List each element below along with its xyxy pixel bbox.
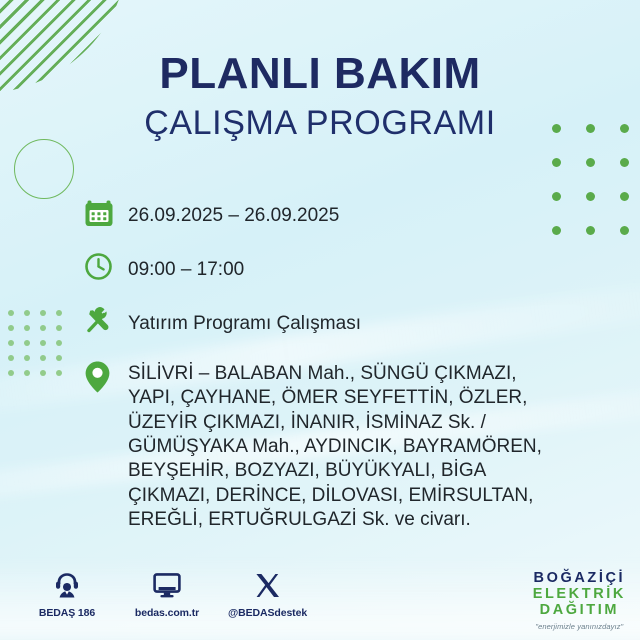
dot-grid-left-decoration — [8, 310, 72, 385]
contact-label: bedas.com.tr — [128, 607, 206, 619]
headset-icon — [28, 568, 106, 602]
x-twitter-icon — [228, 568, 306, 602]
logo-line-bogazici: BOĞAZİÇİ — [533, 570, 626, 586]
info-row-date: 26.09.2025 – 26.09.2025 — [84, 198, 584, 236]
page-title: PLANLI BAKIM ÇALIŞMA PROGRAMI — [0, 52, 640, 140]
work-type-value: Yatırım Programı Çalışması — [128, 306, 361, 336]
info-row-work-type: Yatırım Programı Çalışması — [84, 306, 584, 344]
info-row-location: SİLİVRİ – BALABAN Mah., SÜNGÜ ÇIKMAZI, Y… — [84, 360, 584, 532]
logo-line-dagitim: DAĞITIM — [533, 602, 626, 618]
date-range-value: 26.09.2025 – 26.09.2025 — [128, 198, 339, 228]
contact-list: BEDAŞ 186 bedas.com.tr — [28, 568, 306, 619]
address-line: SİLİVRİ – BALABAN Mah., SÜNGÜ ÇIKMAZI, — [128, 362, 542, 386]
address-line: YAPI, ÇAYHANE, ÖMER SEYFETTİN, ÖZLER, — [128, 386, 542, 410]
contact-call-center[interactable]: BEDAŞ 186 — [28, 568, 106, 619]
calendar-icon — [84, 198, 128, 236]
contact-x-twitter[interactable]: @BEDASdestek — [228, 568, 306, 619]
footer: BEDAŞ 186 bedas.com.tr — [0, 556, 640, 640]
logo-line-elektrik: ELEKTRİK — [533, 586, 626, 602]
info-row-time: 09:00 – 17:00 — [84, 252, 584, 290]
monitor-icon — [128, 568, 206, 602]
tools-icon — [84, 306, 128, 344]
circle-outline-decoration — [14, 139, 74, 199]
address-line: ÜZEYİR ÇIKMAZI, İNANIR, İSMİNAZ Sk. / — [128, 411, 542, 435]
info-list: 26.09.2025 – 26.09.2025 09:00 – 17:00 — [84, 198, 584, 532]
clock-icon — [84, 252, 128, 290]
title-secondary: ÇALIŞMA PROGRAMI — [0, 106, 640, 140]
contact-label: BEDAŞ 186 — [28, 607, 106, 619]
planned-maintenance-poster: PLANLI BAKIM ÇALIŞMA PROGRAMI — [0, 0, 640, 640]
location-value: SİLİVRİ – BALABAN Mah., SÜNGÜ ÇIKMAZI, Y… — [128, 360, 542, 532]
bedas-logo: BOĞAZİÇİ ELEKTRİK DAĞITIM "enerjimizle y… — [533, 570, 626, 631]
address-line: EREĞLİ, ERTUĞRULGAZİ Sk. ve civarı. — [128, 508, 542, 532]
address-line: BEYŞEHİR, BOZYAZI, BÜYÜKYALI, BİGA — [128, 459, 542, 483]
contact-label: @BEDASdestek — [228, 607, 306, 619]
title-primary: PLANLI BAKIM — [0, 52, 640, 96]
contact-website[interactable]: bedas.com.tr — [128, 568, 206, 619]
address-line: GÜMÜŞYAKA Mah., AYDINCIK, BAYRAMÖREN, — [128, 435, 542, 459]
location-pin-icon — [84, 360, 128, 398]
time-range-value: 09:00 – 17:00 — [128, 252, 244, 282]
address-line: ÇIKMAZI, DERİNCE, DİLOVASI, EMİRSULTAN, — [128, 484, 542, 508]
logo-tagline: "enerjimizle yanınızdayız" — [533, 622, 626, 631]
